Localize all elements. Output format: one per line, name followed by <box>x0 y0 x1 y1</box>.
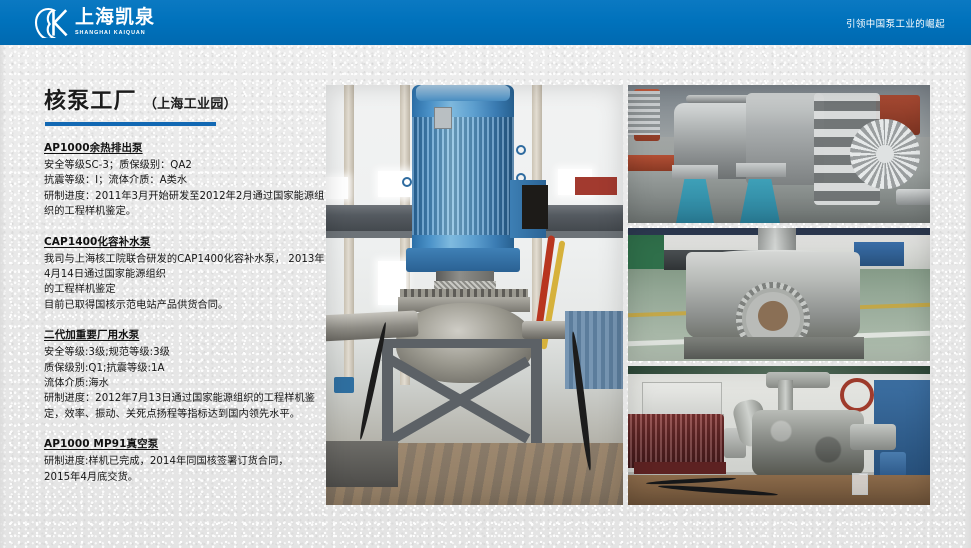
section-line: 抗震等级：Ⅰ；流体介质：A类水 <box>44 173 310 188</box>
motor-cooling-fins <box>412 117 514 235</box>
section-line: 4月14日通过国家能源组织 <box>44 267 310 282</box>
section-heading: AP1000余热排出泵 <box>44 140 310 155</box>
impeller-hub <box>876 145 894 163</box>
motor-cooling-fins <box>628 414 724 468</box>
discharge-flange <box>850 424 896 450</box>
hall-window <box>326 177 348 199</box>
overhead-crane-cab <box>575 177 617 195</box>
photo-pump-casing-casting-on-shop-floor <box>628 228 930 361</box>
concrete-foundation-block <box>326 441 398 487</box>
red-handwheel <box>840 378 874 412</box>
vertical-pipe <box>778 380 793 414</box>
section-line: 安全等级SC-3；质保级别：QA2 <box>44 158 310 173</box>
pump-support-foot <box>672 165 718 179</box>
section-gen2-essential-service-water-pump: 二代加重要厂用水泵 安全等级:3级;规范等级:3级 质保级别:Q1;抗震等级:1… <box>44 327 310 422</box>
page-title: 核泵工厂 （上海工业园） <box>44 83 310 115</box>
section-body: 研制进度:样机已完成，2014年同国核签署订货合同， 2015年4月底交货。 <box>44 454 310 485</box>
brand-logo[interactable]: 上海凯泉 SHANGHAI KAIQUAN <box>33 6 155 39</box>
page-title-sub: （上海工业园） <box>144 93 237 112</box>
section-line: 织的工程样机鉴定。 <box>44 204 310 219</box>
motor-base <box>634 462 726 474</box>
section-heading: AP1000 MP91真空泵 <box>44 436 310 451</box>
slide-canvas: 上海凯泉 SHANGHAI KAIQUAN 引领中国泵工业的崛起 核泵工厂 （上… <box>0 0 971 548</box>
section-line: 研制进度:样机已完成，2014年同国核签署订货合同， <box>44 454 310 469</box>
lifting-eye-bolt <box>402 177 412 187</box>
brand-name-en: SHANGHAI KAIQUAN <box>75 29 155 37</box>
brand-name-cn: 上海凯泉 <box>75 8 155 27</box>
section-ap1000-mp91-vacuum-pump: AP1000 MP91真空泵 研制进度:样机已完成，2014年同国核签署订货合同… <box>44 436 310 485</box>
bellows-expansion-joint <box>628 91 660 135</box>
casting-surface-texture <box>752 410 864 476</box>
title-underline-rule <box>45 122 216 126</box>
blue-transport-cart <box>854 242 904 266</box>
page-title-main: 核泵工厂 <box>44 83 137 115</box>
section-line: 2015年4月底交货。 <box>44 470 310 485</box>
horizontal-pump-body <box>752 410 864 476</box>
section-heading: 二代加重要厂用水泵 <box>44 327 310 342</box>
slide-edge-left <box>0 45 6 548</box>
photo-horizontal-pump-on-teal-pedestals <box>628 85 930 223</box>
section-line: 安全等级:3级;规范等级:3级 <box>44 345 310 360</box>
photo-red-motor-pump-test-bed <box>628 366 930 505</box>
pump-shaft-end <box>896 189 930 205</box>
section-ap1000-rhr-pump: AP1000余热排出泵 安全等级SC-3；质保级别：QA2 抗震等级：Ⅰ；流体介… <box>44 140 310 220</box>
section-line: 质保级别:Q1;抗震等级:1A <box>44 361 310 376</box>
section-body: 我司与上海核工院联合研发的CAP1400化容补水泵， 2013年 4月14日通过… <box>44 252 310 314</box>
section-line: 的工程样机鉴定 <box>44 282 310 297</box>
section-line: 定，效率、振动、关死点扬程等指标达到国内领先水平。 <box>44 407 310 422</box>
section-body: 安全等级:3级;规范等级:3级 质保级别:Q1;抗震等级:1A 流体介质:海水 … <box>44 345 310 422</box>
section-line: 研制进度：2012年7月13日通过国家能源组织的工程样机鉴 <box>44 391 310 406</box>
blue-valve <box>334 377 354 393</box>
section-line: 流体介质:海水 <box>44 376 310 391</box>
section-line: 研制进度：2011年3月开始研发至2012年2月通过国家能源组 <box>44 189 310 204</box>
measuring-beaker <box>852 473 868 495</box>
overhead-pipe <box>766 372 830 388</box>
steel-base-plate <box>684 337 864 359</box>
photo-vertical-nuclear-pump-test-rig <box>326 85 623 505</box>
slide-edge-right <box>965 45 971 548</box>
motor-top-cover <box>416 85 510 101</box>
suction-pipe <box>326 310 419 341</box>
brand-logo-text: 上海凯泉 SHANGHAI KAIQUAN <box>75 8 155 37</box>
pump-support-foot <box>736 163 786 177</box>
section-line: 我司与上海核工院联合研发的CAP1400化容补水泵， 2013年 <box>44 252 310 267</box>
blue-vertical-motor <box>412 85 514 262</box>
motor-nameplate <box>434 107 452 129</box>
section-line: 目前已取得国核示范电站产品供货合同。 <box>44 298 310 313</box>
kaiquan-k-mark-icon <box>33 7 68 38</box>
red-electric-motor <box>628 414 724 468</box>
section-heading: CAP1400化容补水泵 <box>44 234 310 249</box>
page-header: 上海凯泉 SHANGHAI KAIQUAN 引领中国泵工业的崛起 <box>0 0 971 45</box>
lifting-eye-bolt <box>516 145 526 155</box>
section-cap1400-cvcs-makeup-pump: CAP1400化容补水泵 我司与上海核工院联合研发的CAP1400化容补水泵， … <box>44 234 310 314</box>
green-machine <box>628 235 664 269</box>
header-tagline: 引领中国泵工业的崛起 <box>846 0 945 45</box>
content-text-column: 核泵工厂 （上海工业园） AP1000余热排出泵 安全等级SC-3；质保级别：Q… <box>44 83 310 485</box>
section-body: 安全等级SC-3；质保级别：QA2 抗震等级：Ⅰ；流体介质：A类水 研制进度：2… <box>44 158 310 220</box>
terminal-box-opening <box>522 185 548 229</box>
motor-mounting-flange <box>406 248 520 272</box>
